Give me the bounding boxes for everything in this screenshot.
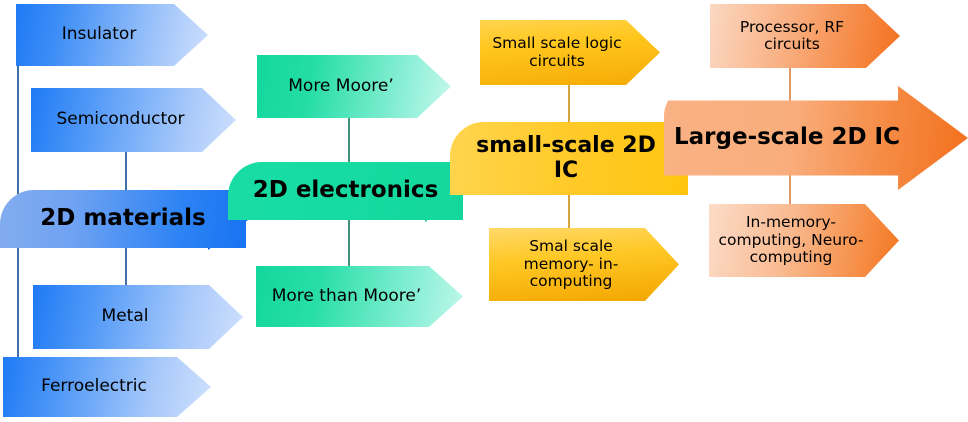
node-metal[interactable]: Metal xyxy=(33,285,243,349)
node-large-scale-2d-ic[interactable]: Large-scale 2D IC xyxy=(664,86,968,190)
node-small-scale-2d-ic-label: small-scale 2D IC xyxy=(470,134,662,183)
node-small-logic-circuits-label: Small scale logic circuits xyxy=(486,35,627,70)
node-2d-materials[interactable]: 2D materials xyxy=(0,190,246,248)
node-processor-rf[interactable]: Processor, RF circuits xyxy=(710,4,900,68)
node-insulator-label: Insulator xyxy=(56,25,143,44)
node-more-moore[interactable]: More Moore’ xyxy=(257,55,451,118)
node-semiconductor[interactable]: Semiconductor xyxy=(31,88,236,152)
node-insulator[interactable]: Insulator xyxy=(16,4,208,66)
node-ferroelectric-label: Ferroelectric xyxy=(35,377,153,396)
node-in-memory-computing[interactable]: In-memory- computing, Neuro- computing xyxy=(709,204,899,277)
node-small-logic-circuits[interactable]: Small scale logic circuits xyxy=(480,20,660,85)
node-2d-electronics[interactable]: 2D electronics xyxy=(228,162,463,220)
node-2d-materials-label: 2D materials xyxy=(34,206,212,232)
connector-metal xyxy=(125,243,127,285)
node-small-memory-label: Smal scale memory- in- computing xyxy=(518,238,625,290)
node-2d-electronics-label: 2D electronics xyxy=(247,178,445,204)
connector-more-than-moore xyxy=(348,215,350,267)
node-ferroelectric[interactable]: Ferroelectric xyxy=(3,357,211,417)
node-more-moore-label: More Moore’ xyxy=(282,77,400,96)
node-more-than-moore-label: More than Moore’ xyxy=(266,287,428,306)
node-more-than-moore[interactable]: More than Moore’ xyxy=(256,266,463,327)
connector-in-memory xyxy=(789,170,791,208)
node-processor-rf-label: Processor, RF circuits xyxy=(734,19,850,54)
node-small-scale-2d-ic[interactable]: small-scale 2D IC xyxy=(450,122,688,195)
node-in-memory-computing-label: In-memory- computing, Neuro- computing xyxy=(712,214,869,266)
node-large-scale-2d-ic-label: Large-scale 2D IC xyxy=(668,125,906,151)
diagram-canvas: Insulator Semiconductor 2D materials Met… xyxy=(0,0,968,422)
node-semiconductor-label: Semiconductor xyxy=(50,110,190,129)
node-metal-label: Metal xyxy=(96,307,155,326)
node-small-memory[interactable]: Smal scale memory- in- computing xyxy=(489,228,679,301)
